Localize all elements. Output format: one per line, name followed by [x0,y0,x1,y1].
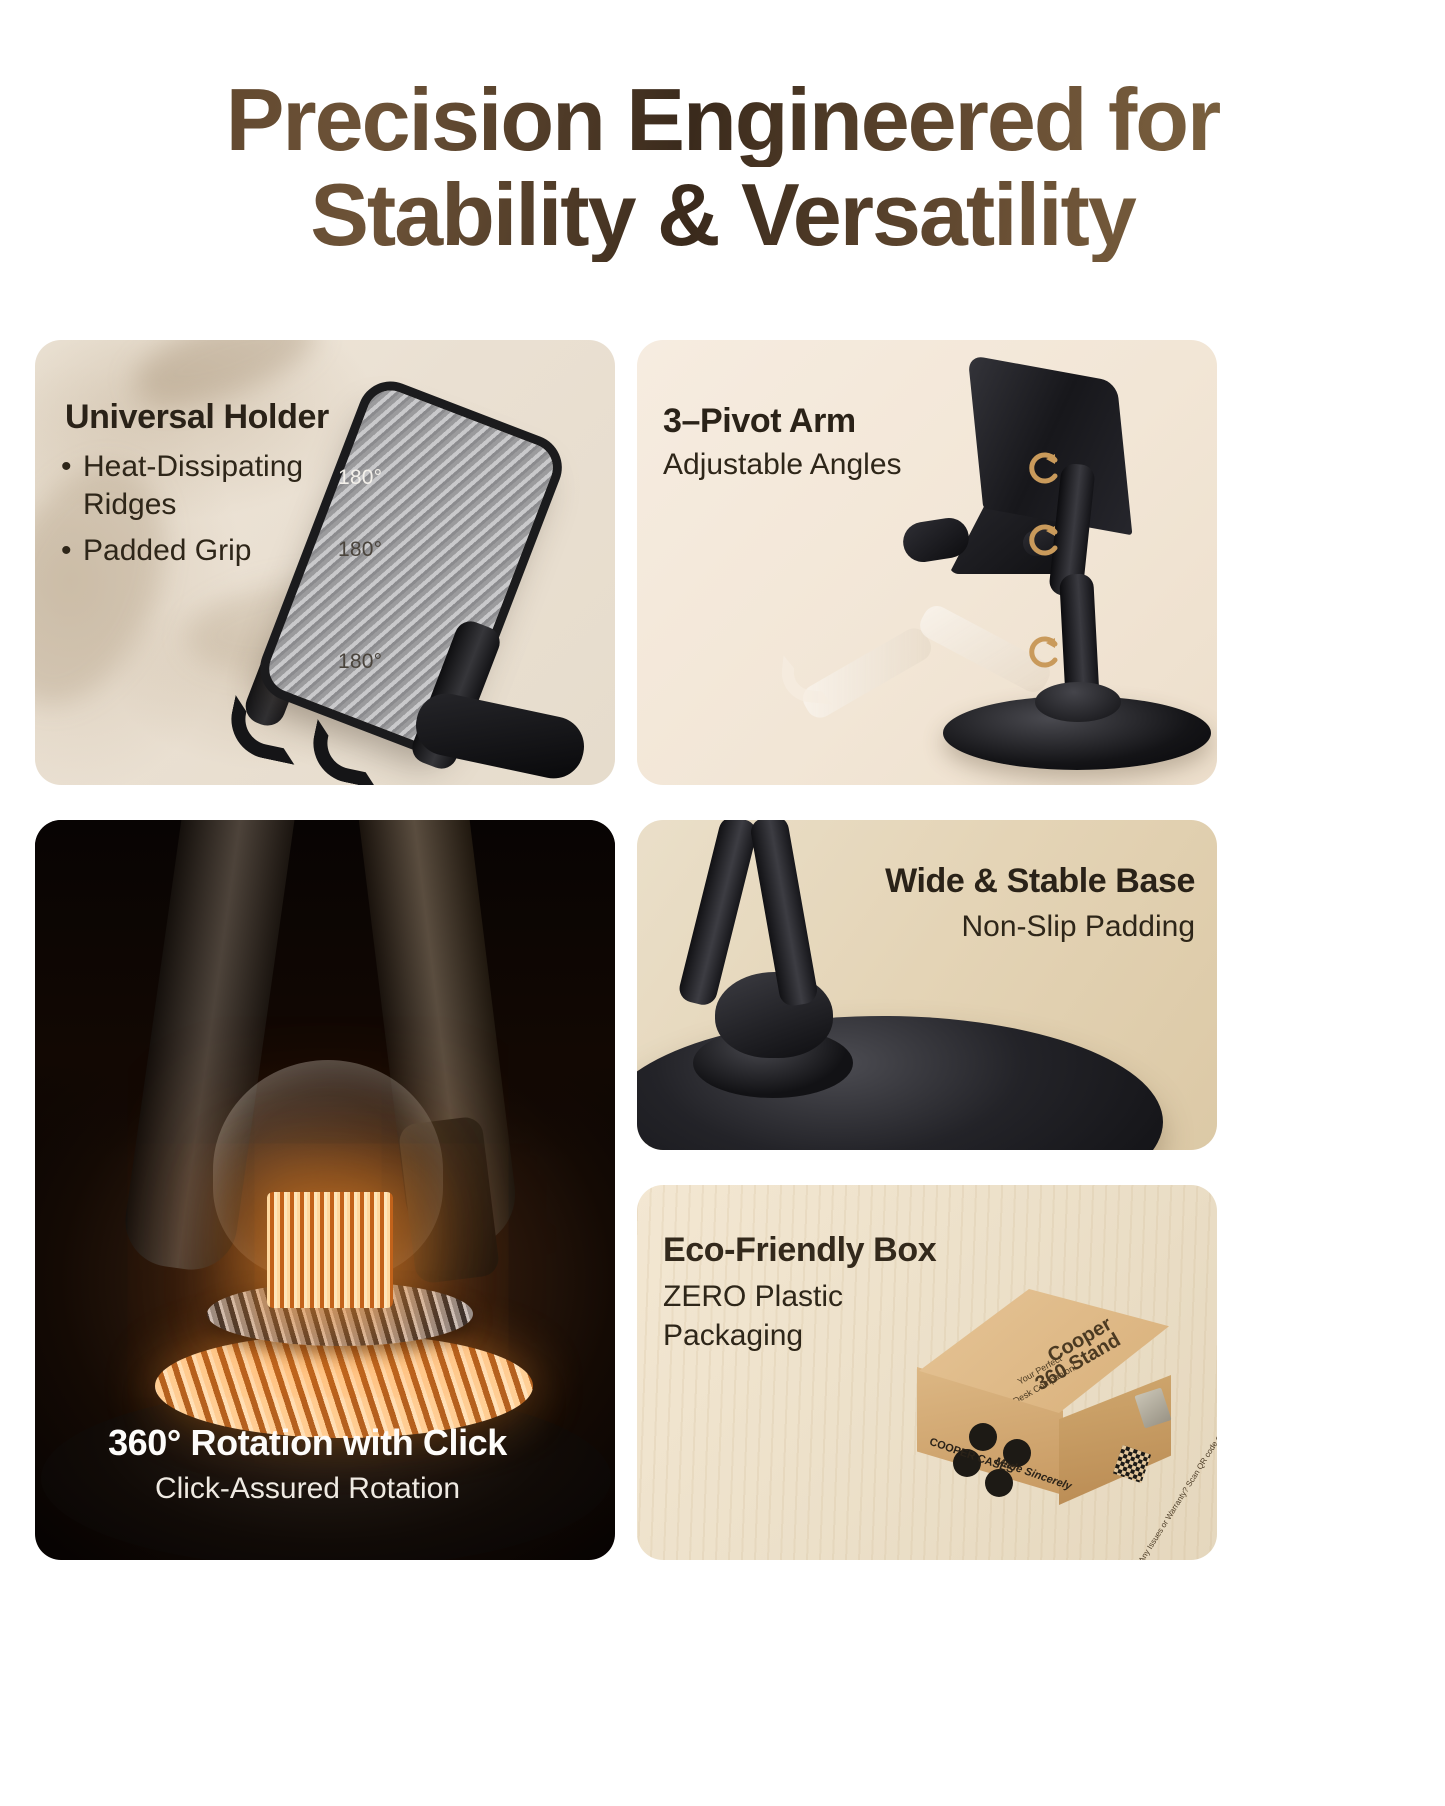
list-item: • Heat-Dissipating Ridges [61,448,361,524]
product-box-image: Cooper 360 Stand Your Perfect Desk Compa… [907,1263,1217,1560]
card-heading: Eco-Friendly Box [663,1231,936,1270]
card-subtitle: Non-Slip Padding [962,910,1195,944]
card-subtitle: ZERO Plastic Packaging [663,1277,893,1355]
card-heading: 3–Pivot Arm [663,402,856,441]
glowing-core [267,1192,393,1308]
base-hub [1035,682,1121,722]
list-item-label: Heat-Dissipating Ridges [83,448,361,524]
list-item: • Padded Grip [61,532,361,570]
feature-bullet-list: • Heat-Dissipating Ridges • Padded Grip [61,448,361,577]
card-subtitle: Adjustable Angles [663,448,902,482]
feature-card-grid: Universal Holder • Heat-Dissipating Ridg… [0,0,1445,1806]
rotation-arrow-icon [1024,448,1064,488]
holder-foot [410,688,589,784]
box-feature-icon [969,1423,997,1451]
pivot-arm-product-image [887,352,1217,785]
card-heading: Universal Holder [65,398,329,437]
ghost-hook-icon [779,655,837,704]
card-caption-sub: Click-Assured Rotation [0,1472,615,1506]
rotation-label-3: 180° [338,650,382,674]
rotation-arrow-icon [1024,520,1064,560]
card-eco-friendly-box: Cooper 360 Stand Your Perfect Desk Compa… [637,1185,1217,1560]
bullet-marker-icon: • [61,532,83,570]
card-three-pivot-arm: 3–Pivot Arm Adjustable Angles [637,340,1217,785]
rotation-label-1: 180° [338,466,382,490]
card-caption-main: 360° Rotation with Click [0,1422,615,1464]
phone-cradle-plate [968,355,1133,536]
list-item-label: Padded Grip [83,532,251,570]
holder-hook-icon [224,695,306,765]
rotation-arrow-icon [1024,632,1064,672]
card-universal-holder: Universal Holder • Heat-Dissipating Ridg… [35,340,615,785]
rotation-label-2: 180° [338,538,382,562]
card-wide-stable-base: Wide & Stable Base Non-Slip Padding [637,820,1217,1150]
card-heading: Wide & Stable Base [885,862,1195,901]
holder-hook-icon [306,719,388,785]
bullet-marker-icon: • [61,448,83,524]
